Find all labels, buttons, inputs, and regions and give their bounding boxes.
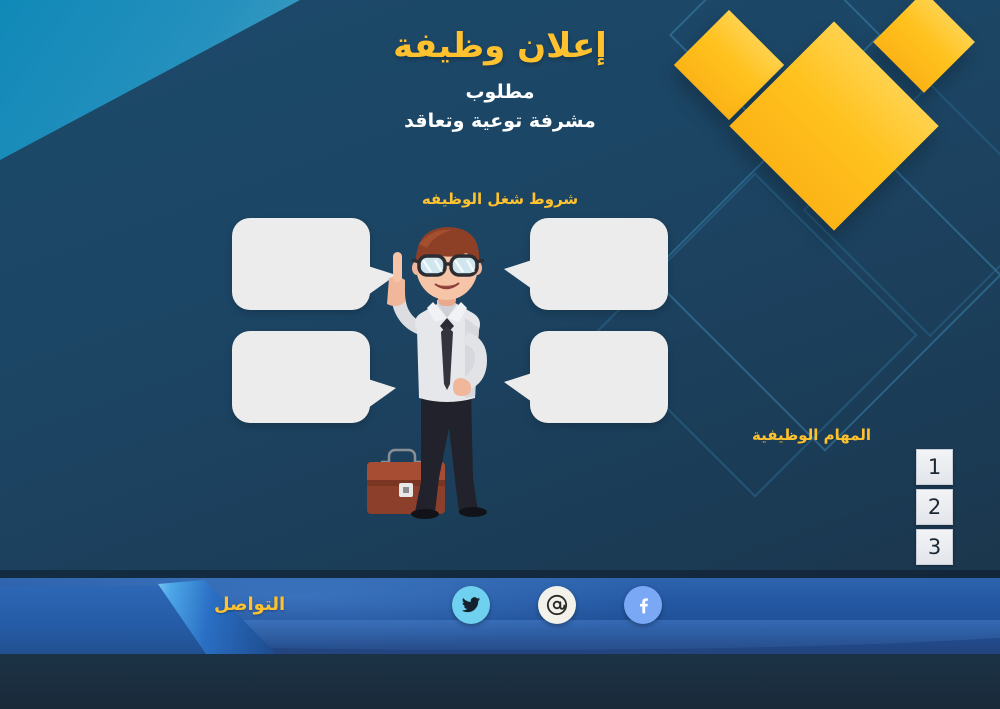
twitter-button[interactable] [452,586,490,624]
duty-number-3[interactable]: 3 [916,529,953,565]
condition-bubble-4[interactable] [530,331,668,423]
businessman-illustration [355,222,540,522]
facebook-icon [633,595,653,615]
diamond-outline-shape [648,98,1000,452]
condition-bubble-2[interactable] [232,331,370,423]
section-title-duties: المهام الوظيفية [752,426,871,444]
subtitle-job-role: مشرفة توعية وتعاقد [0,110,1000,132]
duty-number-2[interactable]: 2 [916,489,953,525]
page-title: إعلان وظيفة [0,26,1000,67]
email-button[interactable] [538,586,576,624]
bottom-strip [0,654,1000,709]
condition-bubble-1[interactable] [232,218,370,310]
section-title-conditions: شروط شغل الوظيفه [0,190,1000,208]
duty-number-1[interactable]: 1 [916,449,953,485]
at-sign-icon [546,594,568,616]
twitter-icon [461,595,481,615]
facebook-button[interactable] [624,586,662,624]
pointing-hand [387,252,405,306]
subtitle-wanted: مطلوب [0,81,1000,103]
social-links [452,586,662,624]
condition-bubble-3[interactable] [530,218,668,310]
job-announcement-poster: إعلان وظيفة مطلوب مشرفة توعية وتعاقد شرو… [0,0,1000,709]
contact-label: التواصل [214,594,285,615]
poster-header: إعلان وظيفة مطلوب مشرفة توعية وتعاقد [0,26,1000,132]
duties-number-list: 1 2 3 [916,449,953,565]
